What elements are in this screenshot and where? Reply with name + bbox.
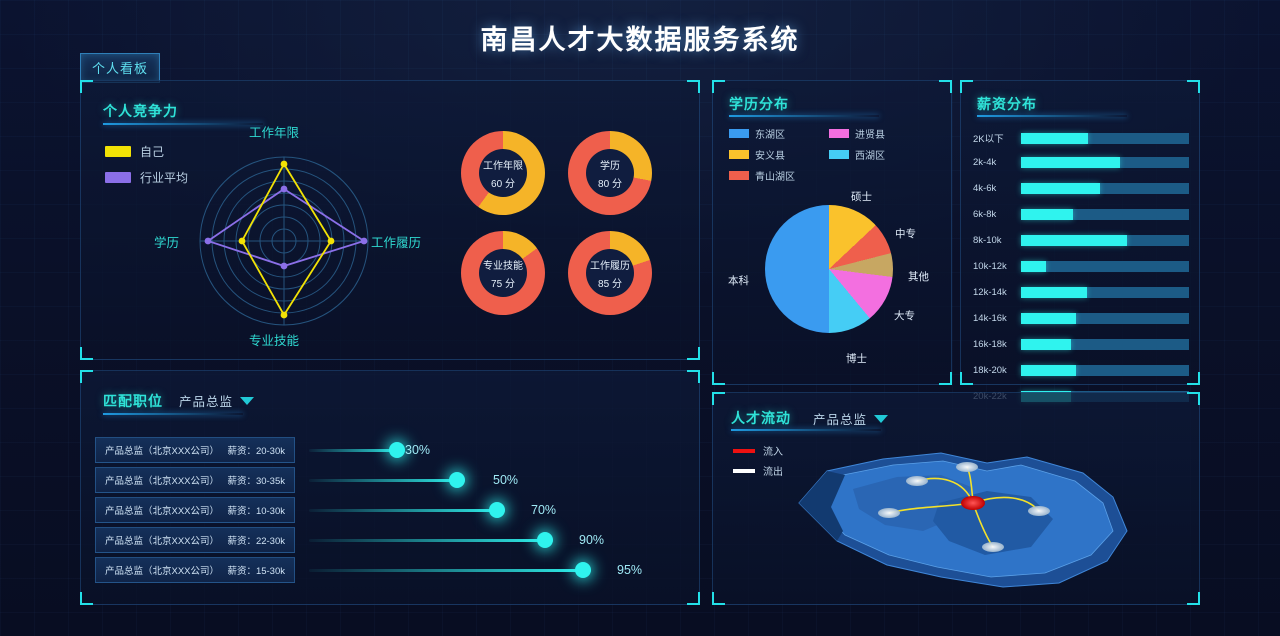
donut-label-work-history: 工作履历 [590,257,630,272]
salary-bar-fill [1021,183,1100,194]
flow-filter-dropdown[interactable]: 产品总监 [813,409,888,428]
jobs-filter-dropdown[interactable]: 产品总监 [179,391,254,410]
salary-bar-track [1021,365,1189,376]
donut-work-years: 工作年限 60 分 [461,131,545,215]
panel-salary-distribution: 薪资分布 2K以下 2k-4k 4k-6k 6k-8k 8k-10k 10k-1… [960,80,1200,385]
corner-top-right [687,370,700,383]
legend-swatch-anyi [729,150,749,159]
corner-top-right [687,80,700,93]
title-underline [729,115,879,117]
slider-knob[interactable] [389,442,405,458]
pie-chart-education [765,205,893,333]
legend-item-donghu[interactable]: 东湖区 [729,126,815,141]
corner-top-left [960,80,973,93]
salary-row: 2K以下 [973,131,1189,145]
salary-label: 8k-10k [973,235,1021,246]
job-name: 产品总监（北京XXX公司） [105,443,219,457]
job-match-slider[interactable] [309,508,505,513]
donut-label-work-years: 工作年限 [483,157,523,172]
salary-label: 6k-8k [973,209,1021,220]
legend-swatch-outflow [733,469,755,473]
title-underline [103,413,243,415]
salary-bar-track [1021,261,1189,272]
talent-flow-map [791,445,1191,595]
slider-track [309,539,553,542]
panel-title-salary: 薪资分布 [977,94,1037,114]
slider-track [309,479,465,482]
slider-knob[interactable] [575,562,591,578]
job-name: 产品总监（北京XXX公司） [105,503,219,517]
salary-row: 2k-4k [973,157,1189,168]
job-salary: 薪资：20-30k [227,443,285,457]
donut-work-history: 工作履历 85 分 [568,231,652,315]
corner-bottom-left [80,347,93,360]
salary-row: 4k-6k [973,183,1189,194]
legend-label-jinxian: 进贤县 [855,126,885,141]
legend-swatch-jinxian [829,129,849,138]
salary-bar-fill [1021,209,1073,220]
salary-label: 14k-16k [973,313,1021,324]
flow-node-center [961,496,985,510]
radar-chart [169,141,399,341]
job-name: 产品总监（北京XXX公司） [105,473,219,487]
panel-talent-flow: 人才流动 产品总监 流入 流出 [712,392,1200,605]
job-row[interactable]: 产品总监（北京XXX公司） 薪资：15-30k 95% [95,557,591,583]
legend-swatch-self [105,146,131,157]
salary-label: 12k-14k [973,287,1021,298]
job-row[interactable]: 产品总监（北京XXX公司） 薪资：20-30k 30% [95,437,405,463]
map-landmass [799,453,1127,587]
donut-ring-skills: 专业技能 75 分 [461,231,545,315]
legend-item-outflow[interactable]: 流出 [733,463,783,478]
slider-knob[interactable] [537,532,553,548]
legend-label-outflow: 流出 [763,463,783,478]
salary-bar-fill [1021,261,1046,272]
panel-competitiveness: 个人竞争力 自己 行业平均 工作年限 工作履历 专业技能 学历 [80,80,700,360]
corner-bottom-left [712,372,725,385]
legend-label-xihu: 西湖区 [855,147,885,162]
legend-item-xihu[interactable]: 西湖区 [829,147,915,162]
donut-label-education: 学历 [600,157,620,172]
salary-label: 18k-20k [973,365,1021,376]
corner-bottom-right [687,592,700,605]
chevron-down-icon [874,415,888,423]
job-match-slider[interactable] [309,448,405,453]
donut-score-work-history: 85 分 [598,275,622,290]
page-title: 南昌人才大数据服务系统 [0,18,1280,57]
salary-bar-track [1021,157,1189,168]
corner-bottom-right [687,347,700,360]
corner-bottom-left [712,592,725,605]
panel-title-flow: 人才流动 [731,408,791,428]
salary-label: 10k-12k [973,261,1021,272]
education-legend: 东湖区 进贤县 安义县 西湖区 青山湖区 [729,126,939,183]
job-match-percent: 70% [531,503,556,517]
pie-label-vocational: 中专 [895,226,916,241]
salary-label: 16k-18k [973,339,1021,350]
job-match-percent: 90% [579,533,604,547]
job-salary: 薪资：15-30k [227,563,285,577]
donut-label-skills: 专业技能 [483,257,523,272]
salary-bar-fill [1021,287,1087,298]
panel-title-competitiveness: 个人竞争力 [103,101,178,121]
salary-label: 4k-6k [973,183,1021,194]
donut-score-skills: 75 分 [491,275,515,290]
panel-title-jobs: 匹配职位 [103,391,163,411]
job-match-slider[interactable] [309,568,591,573]
pie-label-master: 硕士 [851,189,872,204]
salary-bar-fill [1021,365,1076,376]
donut-skills: 专业技能 75 分 [461,231,545,315]
salary-row: 16k-18k [973,339,1189,350]
donut-score-education: 80 分 [598,175,622,190]
corner-bottom-right [939,372,952,385]
donut-ring-work-history: 工作履历 85 分 [568,231,652,315]
salary-bar-track [1021,287,1189,298]
panel-matching-jobs: 匹配职位 产品总监 产品总监（北京XXX公司） 薪资：20-30k 30% 产品… [80,370,700,605]
corner-top-right [1187,392,1200,405]
radar-series-self [242,164,331,315]
job-match-slider[interactable] [309,478,465,483]
job-name: 产品总监（北京XXX公司） [105,563,219,577]
slider-knob[interactable] [489,502,505,518]
salary-bar-fill [1021,235,1127,246]
jobs-filter-value: 产品总监 [179,391,233,410]
job-match-slider[interactable] [309,538,553,543]
job-salary: 薪资：30-35k [227,473,285,487]
salary-row: 14k-16k [973,313,1189,324]
job-box[interactable]: 产品总监（北京XXX公司） 薪资：15-30k [95,557,295,583]
donut-score-work-years: 60 分 [491,175,515,190]
title-underline [977,115,1127,117]
job-salary: 薪资：10-30k [227,503,285,517]
corner-top-left [712,392,725,405]
legend-label-qingshanhu: 青山湖区 [755,168,795,183]
legend-label-anyi: 安义县 [755,147,785,162]
corner-bottom-left [80,592,93,605]
slider-track [309,509,505,512]
legend-item-anyi[interactable]: 安义县 [729,147,815,162]
corner-top-right [939,80,952,93]
salary-bar-track [1021,313,1189,324]
panel-title-education: 学历分布 [729,94,789,114]
legend-swatch-donghu [729,129,749,138]
salary-bar-track [1021,209,1189,220]
job-match-percent: 30% [405,443,430,457]
job-box[interactable]: 产品总监（北京XXX公司） 薪资：30-35k [95,467,295,493]
pie-label-other: 其他 [908,269,929,284]
job-box[interactable]: 产品总监（北京XXX公司） 薪资：20-30k [95,437,295,463]
salary-row: 10k-12k [973,261,1189,272]
job-row[interactable]: 产品总监（北京XXX公司） 薪资：30-35k 50% [95,467,465,493]
legend-label-donghu: 东湖区 [755,126,785,141]
salary-row: 8k-10k [973,235,1189,246]
salary-bar-fill [1021,133,1088,144]
title-underline [731,429,881,431]
corner-top-right [1187,80,1200,93]
donut-ring-education: 学历 80 分 [568,131,652,215]
slider-track [309,569,591,572]
legend-swatch-industry-average [105,172,131,183]
salary-bar-track [1021,183,1189,194]
salary-bar-track [1021,339,1189,350]
job-box[interactable]: 产品总监（北京XXX公司） 薪资：22-30k [95,527,295,553]
job-row[interactable]: 产品总监（北京XXX公司） 薪资：10-30k 70% [95,497,505,523]
legend-label-inflow: 流入 [763,443,783,458]
corner-top-left [80,80,93,93]
corner-top-left [712,80,725,93]
pie-label-college: 大专 [894,308,915,323]
pie-label-doctor: 博士 [846,351,867,366]
salary-bar-fill [1021,313,1076,324]
legend-swatch-qingshanhu [729,171,749,180]
salary-row: 6k-8k [973,209,1189,220]
radar-series-industry-average [208,189,364,266]
job-match-percent: 95% [617,563,642,577]
legend-swatch-inflow [733,449,755,453]
job-salary: 薪资：22-30k [227,533,285,547]
tab-personal-board[interactable]: 个人看板 [80,53,160,83]
donut-education: 学历 80 分 [568,131,652,215]
salary-row: 12k-14k [973,287,1189,298]
legend-item-inflow[interactable]: 流入 [733,443,783,458]
pie-label-bachelor: 本科 [728,273,749,288]
legend-swatch-xihu [829,150,849,159]
panel-education-distribution: 学历分布 东湖区 进贤县 安义县 西湖区 青山湖区 硕士 中专 其他 大专 博士… [712,80,952,385]
title-underline [103,123,263,125]
job-match-percent: 50% [493,473,518,487]
job-row[interactable]: 产品总监（北京XXX公司） 薪资：22-30k 90% [95,527,553,553]
salary-bar-fill [1021,157,1120,168]
legend-item-qingshanhu[interactable]: 青山湖区 [729,168,815,183]
salary-bar-fill [1021,339,1071,350]
chevron-down-icon [240,397,254,405]
donut-ring-work-years: 工作年限 60 分 [461,131,545,215]
salary-row: 18k-20k [973,365,1189,376]
corner-bottom-left [960,372,973,385]
salary-bar-track [1021,235,1189,246]
flow-filter-value: 产品总监 [813,409,867,428]
salary-bar-track [1021,133,1189,144]
job-name: 产品总监（北京XXX公司） [105,533,219,547]
slider-knob[interactable] [449,472,465,488]
salary-label: 2K以下 [973,131,1021,145]
job-box[interactable]: 产品总监（北京XXX公司） 薪资：10-30k [95,497,295,523]
corner-top-left [80,370,93,383]
salary-label: 2k-4k [973,157,1021,168]
legend-item-jinxian[interactable]: 进贤县 [829,126,915,141]
radar-axis-label-top: 工作年限 [249,122,299,141]
legend-label-self: 自己 [140,143,164,160]
flow-legend: 流入 流出 [733,443,783,483]
